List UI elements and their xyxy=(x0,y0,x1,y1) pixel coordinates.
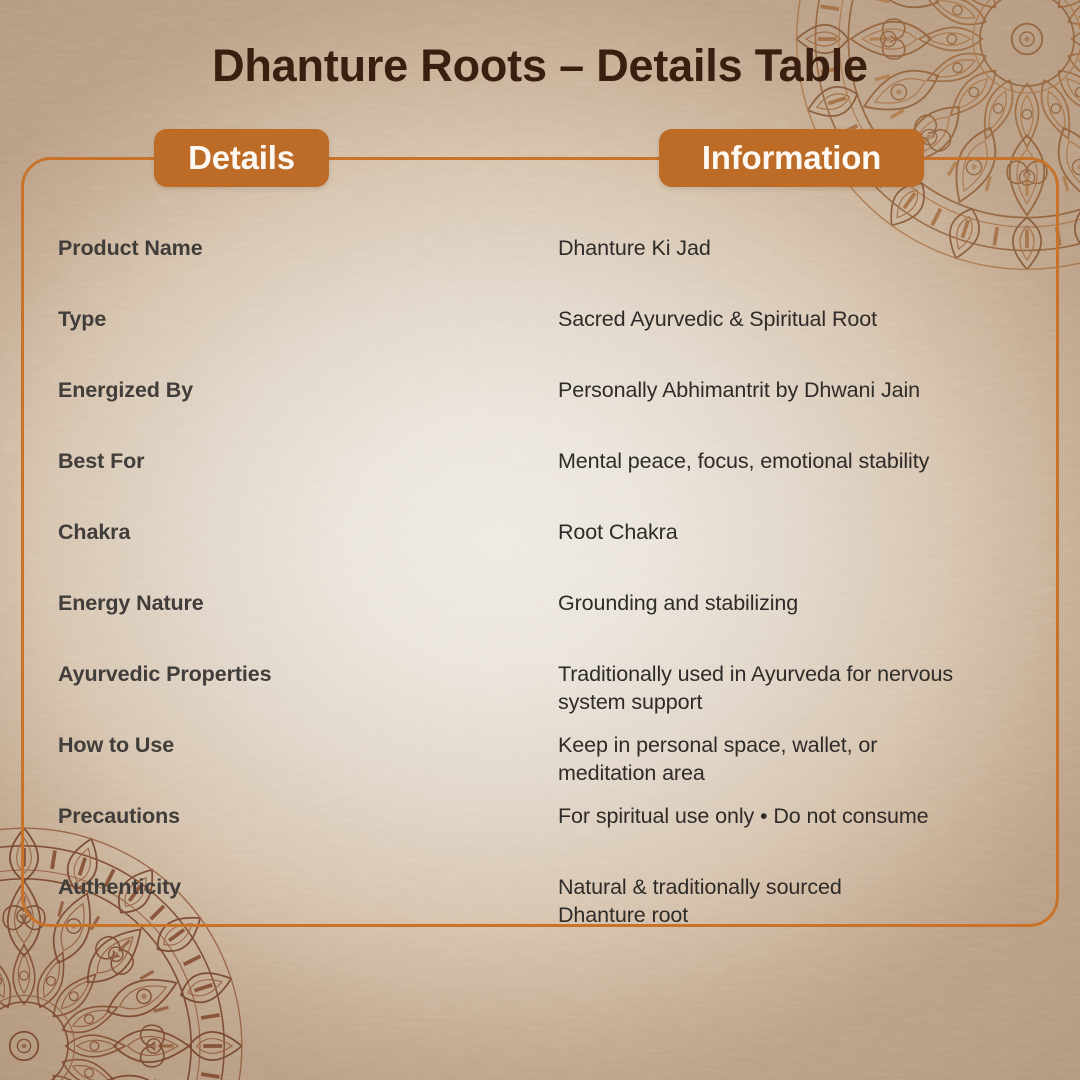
table-row-value: Root Chakra xyxy=(558,518,1048,546)
table-row-label: Energized By xyxy=(58,376,528,404)
table-row-value-line: system support xyxy=(558,688,1048,716)
table-header-information: Information xyxy=(659,129,924,187)
table-row-value-line: Root Chakra xyxy=(558,518,1048,546)
table-row-label: How to Use xyxy=(58,731,528,759)
table-row-value-line: Dhanture Ki Jad xyxy=(558,234,1048,262)
table-row-label: Type xyxy=(58,305,528,333)
poster-canvas: Dhanture Roots – Details Table Details I… xyxy=(0,0,1080,1080)
table-row-label: Ayurvedic Properties xyxy=(58,660,528,688)
table-row-value: Dhanture Ki Jad xyxy=(558,234,1048,262)
page-title: Dhanture Roots – Details Table xyxy=(0,38,1080,94)
table-row-value: Keep in personal space, wallet, ormedita… xyxy=(558,731,1048,787)
table-row-value-line: Sacred Ayurvedic & Spiritual Root xyxy=(558,305,1048,333)
table-row-label: Precautions xyxy=(58,802,528,830)
table-row-value-line: For spiritual use only • Do not consume xyxy=(558,802,1048,830)
table-row-value: Personally Abhimantrit by Dhwani Jain xyxy=(558,376,1048,404)
table-row-value-line: Grounding and stabilizing xyxy=(558,589,1048,617)
table-row-label: Product Name xyxy=(58,234,528,262)
table-row-value: Natural & traditionally sourcedDhanture … xyxy=(558,873,1048,929)
table-row-value-line: Dhanture root xyxy=(558,901,1048,929)
table-row-value-line: Mental peace, focus, emotional stability xyxy=(558,447,1048,475)
table-row-value-line: Keep in personal space, wallet, or xyxy=(558,731,1048,759)
table-row-label: Chakra xyxy=(58,518,528,546)
table-row-label: Best For xyxy=(58,447,528,475)
table-row-value: Traditionally used in Ayurveda for nervo… xyxy=(558,660,1048,716)
table-row-value-line: Natural & traditionally sourced xyxy=(558,873,1048,901)
table-row-value-line: meditation area xyxy=(558,759,1048,787)
table-row-label: Energy Nature xyxy=(58,589,528,617)
table-row-value: Sacred Ayurvedic & Spiritual Root xyxy=(558,305,1048,333)
table-header-details: Details xyxy=(154,129,329,187)
table-row-value-line: Personally Abhimantrit by Dhwani Jain xyxy=(558,376,1048,404)
table-row-value: For spiritual use only • Do not consume xyxy=(558,802,1048,830)
table-row-value: Mental peace, focus, emotional stability xyxy=(558,447,1048,475)
table-row-label: Authenticity xyxy=(58,873,528,901)
table-row-value-line: Traditionally used in Ayurveda for nervo… xyxy=(558,660,1048,688)
table-row-value: Grounding and stabilizing xyxy=(558,589,1048,617)
